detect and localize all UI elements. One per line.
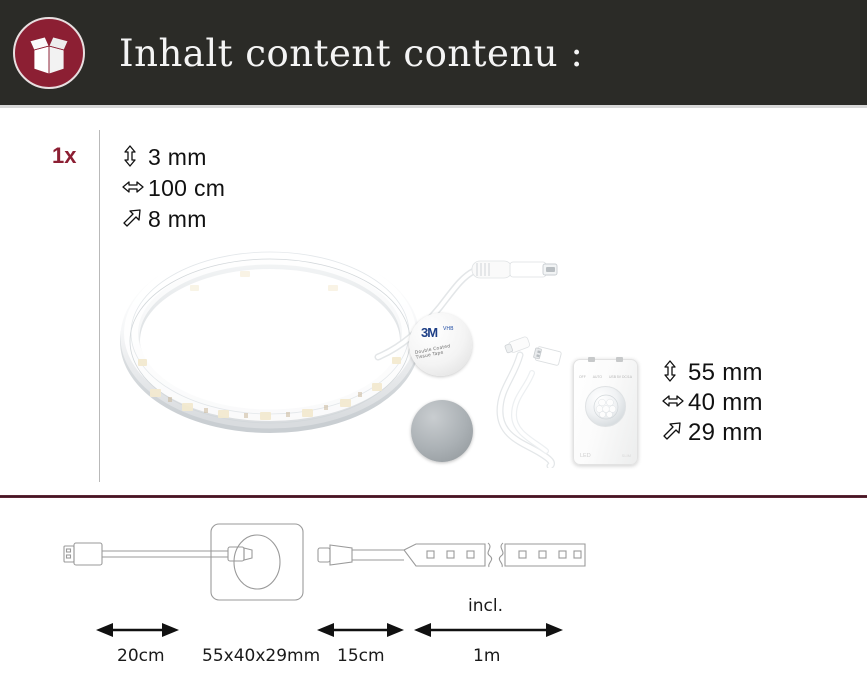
dimension-value: 8 mm <box>148 206 207 233</box>
dimension-row: 3 mm <box>122 142 225 173</box>
adhesive-disc-3m: 3M VHB Double Coated Tissue Tape <box>409 313 472 376</box>
sensor-label-off: OFF <box>579 375 586 379</box>
dimension-value: 3 mm <box>148 144 207 171</box>
dc-jack <box>318 545 352 565</box>
sensor-tab-right <box>616 357 623 362</box>
measure-label-15cm: 15cm <box>337 646 385 666</box>
schematic-parts <box>0 500 867 700</box>
usb-a-plug <box>64 543 102 565</box>
sensor-tab-left <box>588 357 595 362</box>
arrow-diagonal-icon <box>662 421 688 445</box>
section-divider <box>0 495 867 498</box>
usb-cable <box>490 333 580 468</box>
arrow-horizontal-icon <box>122 179 148 199</box>
measure-label-1m: 1m <box>473 646 500 666</box>
sensor-label-led: LED <box>580 453 591 459</box>
quantity-label: 1x <box>52 143 76 169</box>
sensor-label-auto: AUTO <box>593 375 602 379</box>
measure-arrow-1m <box>414 623 563 637</box>
metal-disc <box>411 400 473 462</box>
measure-arrow-20cm <box>96 623 179 637</box>
measure-arrow-15cm <box>317 623 404 637</box>
sensor-top-tabs <box>574 357 637 362</box>
schematic-diagram <box>0 500 867 700</box>
led-strip <box>404 543 585 567</box>
motion-sensor-unit: OFF AUTO USB 5V DC/1A LED SLIM <box>573 359 638 465</box>
arrow-horizontal-icon <box>662 393 688 413</box>
dimension-value: 29 mm <box>688 419 763 447</box>
dimension-row: 29 mm <box>662 418 763 448</box>
sensor-top-labels: OFF AUTO USB 5V DC/1A <box>579 374 632 379</box>
sensor-label-slim: SLIM <box>622 453 631 459</box>
right-dimension-list: 55 mm 40 mm 29 mm <box>662 358 763 448</box>
vertical-divider <box>99 130 100 482</box>
brand-3m-label: 3M <box>421 325 437 340</box>
dimension-row: 55 mm <box>662 358 763 388</box>
micro-usb-plug <box>228 547 252 561</box>
brand-3m-sublabel: VHB <box>443 326 454 332</box>
dimension-row: 40 mm <box>662 388 763 418</box>
arrow-vertical-icon <box>662 360 688 386</box>
arrow-vertical-icon <box>122 145 148 171</box>
sensor-label-usb: USB 5V DC/1A <box>609 375 632 379</box>
arrow-diagonal-icon <box>122 208 148 232</box>
incl-label: incl. <box>468 596 503 616</box>
measure-label-sensor: 55x40x29mm <box>202 646 320 666</box>
measure-label-20cm: 20cm <box>117 646 165 666</box>
open-box-icon <box>26 31 72 75</box>
dimension-value: 40 mm <box>688 389 763 417</box>
sensor-box-dome <box>234 535 280 589</box>
content-badge <box>13 17 85 89</box>
left-dimension-list: 3 mm 100 cm 8 mm <box>122 142 225 235</box>
dimension-value: 55 mm <box>688 359 763 387</box>
dimension-row: 8 mm <box>122 204 225 235</box>
header-underline <box>0 105 867 108</box>
sensor-bottom-labels: LED SLIM <box>580 453 631 459</box>
pir-sensor-dome <box>585 386 626 427</box>
adhesive-disc-description: Double Coated Tissue Tape <box>415 341 468 361</box>
page-title: Inhalt content contenu : <box>119 28 583 80</box>
dimension-row: 100 cm <box>122 173 225 204</box>
dimension-value: 100 cm <box>148 175 225 202</box>
fresnel-lens-icon <box>593 394 619 420</box>
